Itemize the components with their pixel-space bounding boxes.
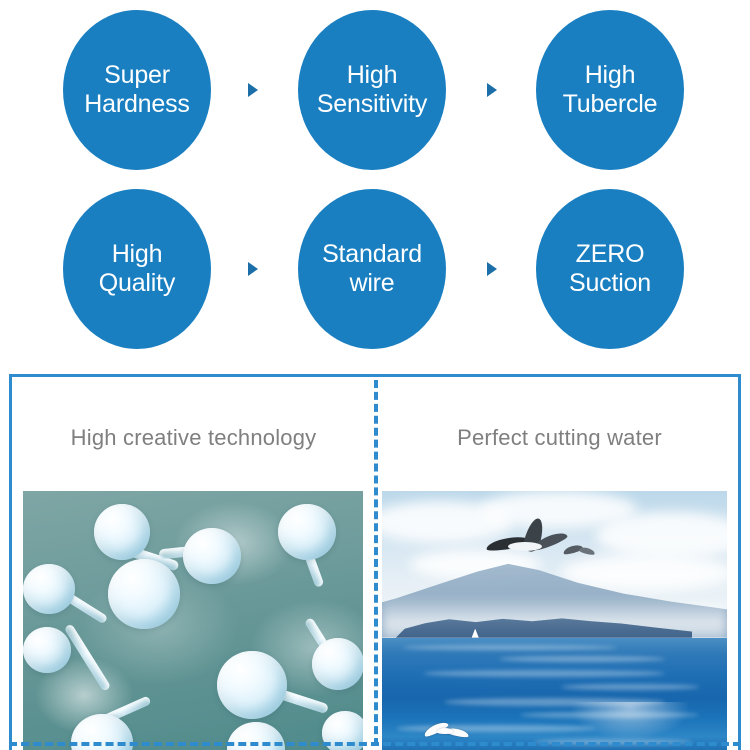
feature-bubble-standard-wire[interactable]: Standard wire <box>298 189 446 349</box>
feature-row-2: High Quality Standard wire ZERO Suction <box>0 179 750 358</box>
bubble-label-line1: High <box>347 61 398 90</box>
arrow-right-icon <box>248 83 258 97</box>
feature-bubble-high-sensitivity[interactable]: High Sensitivity <box>298 10 446 170</box>
bubble-label-line2: wire <box>349 269 394 298</box>
feature-bubble-super-hardness[interactable]: Super Hardness <box>63 10 211 170</box>
product-feature-infographic: Super Hardness High Sensitivity High Tub… <box>0 0 750 750</box>
showcase-title-left: High creative technology <box>12 425 375 451</box>
bubble-label-line1: Standard <box>322 240 422 269</box>
bubble-label-line2: Hardness <box>84 90 189 119</box>
panel-vertical-divider <box>374 380 378 746</box>
sea-landscape-photo <box>382 491 727 750</box>
bubble-label-line1: High <box>112 240 163 269</box>
ice-molecule-photo <box>23 491 363 750</box>
bubble-label-line1: ZERO <box>576 240 645 269</box>
bubble-label-line1: High <box>585 61 636 90</box>
bubble-label-line2: Sensitivity <box>317 90 427 119</box>
bubble-label-line1: Super <box>104 61 170 90</box>
showcase-title-right: Perfect cutting water <box>378 425 741 451</box>
arrow-right-icon <box>248 262 258 276</box>
feature-bubble-high-quality[interactable]: High Quality <box>63 189 211 349</box>
panel-bottom-dashed-border <box>9 742 741 746</box>
bubble-label-line2: Quality <box>99 269 175 298</box>
bubble-label-line2: Tubercle <box>563 90 658 119</box>
feature-bubbles-section: Super Hardness High Sensitivity High Tub… <box>0 0 750 358</box>
sea-landscape-image <box>382 491 727 750</box>
feature-row-1: Super Hardness High Sensitivity High Tub… <box>0 0 750 179</box>
showcase-half-left: High creative technology <box>12 377 375 750</box>
arrow-right-icon <box>487 262 497 276</box>
showcase-half-right: Perfect cutting water <box>378 377 741 750</box>
feature-bubble-high-tubercle[interactable]: High Tubercle <box>536 10 684 170</box>
feature-bubble-zero-suction[interactable]: ZERO Suction <box>536 189 684 349</box>
arrow-right-icon <box>487 83 497 97</box>
bubble-label-line2: Suction <box>569 269 651 298</box>
ice-molecule-image <box>23 491 363 750</box>
